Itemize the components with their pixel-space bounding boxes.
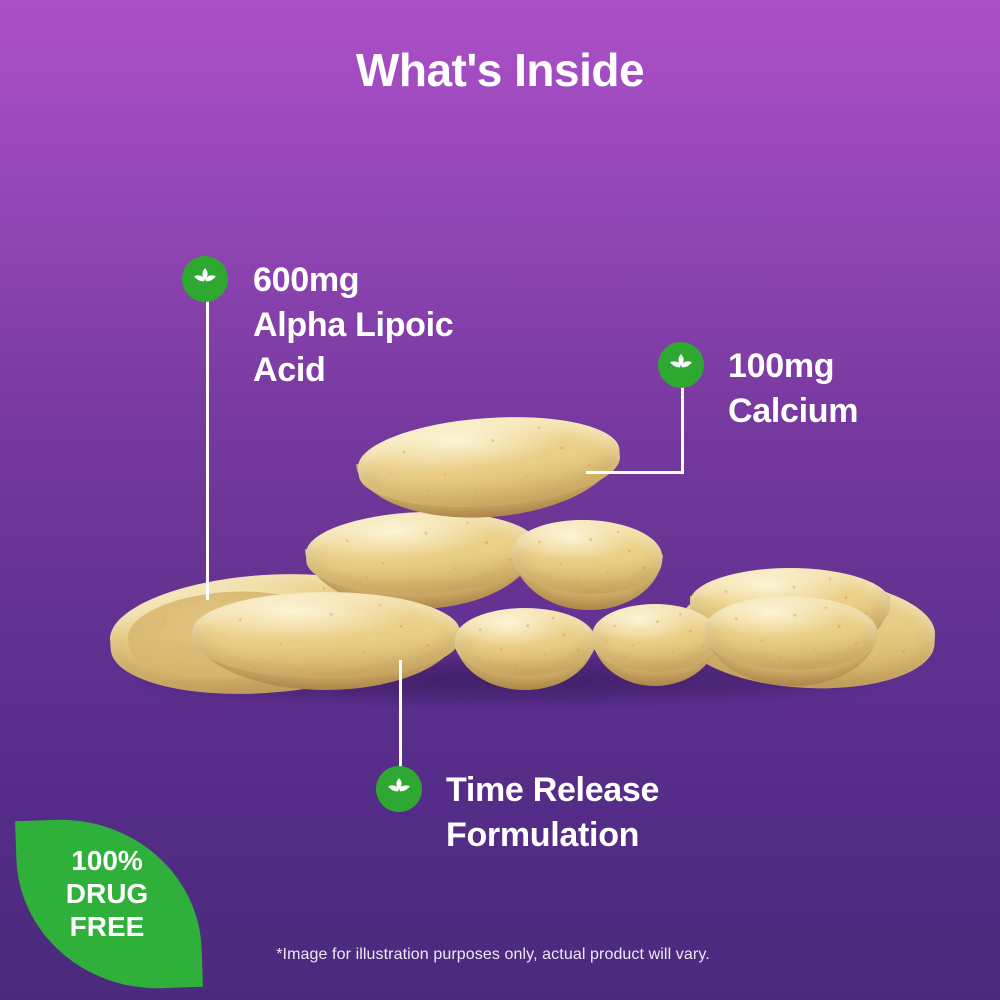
leader-line-time-release (399, 660, 402, 772)
tablet-front-a (455, 608, 595, 676)
drug-free-badge: 100% DRUG FREE (18, 818, 200, 990)
leaf-sprout-icon (376, 766, 422, 812)
drug-free-label: 100% DRUG FREE (32, 844, 182, 943)
tablet-top (355, 409, 623, 515)
leader-line-alpha-lipoic (206, 300, 209, 600)
leader-line-calcium-horizontal (586, 471, 684, 474)
leader-line-calcium-vertical (681, 386, 684, 474)
tablet-front-wide (192, 592, 460, 678)
callout-label-calcium: 100mg Calcium (728, 344, 988, 434)
callout-label-time-release: Time Release Formulation (446, 768, 776, 858)
tablet-front-b (592, 604, 718, 672)
product-infographic: What's Inside (0, 0, 1000, 1000)
callout-label-alpha-lipoic: 600mg Alpha Lipoic Acid (253, 258, 553, 393)
disclaimer-text: *Image for illustration purposes only, a… (0, 946, 1000, 964)
leaf-sprout-icon (182, 256, 228, 302)
leaf-sprout-icon (658, 342, 704, 388)
